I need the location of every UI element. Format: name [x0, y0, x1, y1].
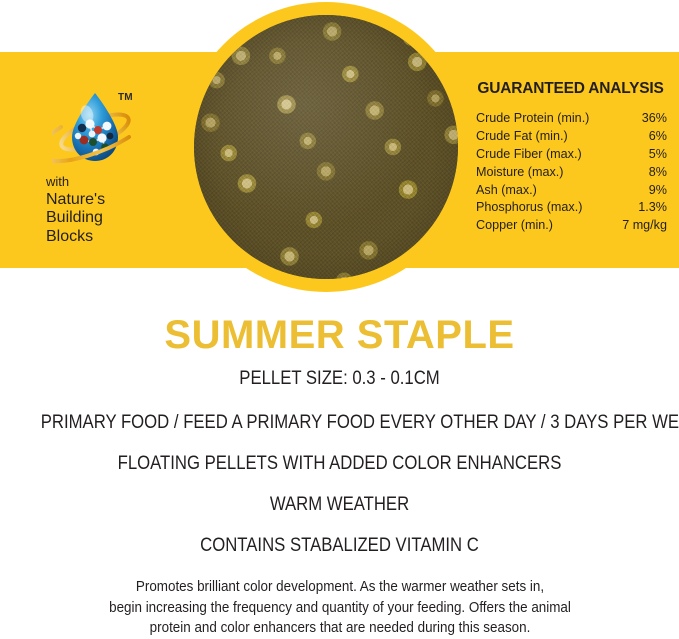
description-line: Promotes brilliant color development. As… — [64, 577, 616, 598]
guaranteed-analysis-list: Crude Protein (min.)36%Crude Fat (min.)6… — [472, 110, 669, 235]
product-info-block: SUMMER STAPLE PELLET SIZE: 0.3 - 0.1CM P… — [0, 300, 679, 639]
feature-line: FLOATING PELLETS WITH ADDED COLOR ENHANC… — [41, 453, 639, 475]
analysis-row-value: 6% — [649, 128, 667, 146]
guaranteed-analysis-panel: GUARANTEED ANALYSIS Crude Protein (min.)… — [472, 80, 669, 235]
brand-logo: TM with Nature's Building Blocks — [46, 84, 166, 246]
analysis-row-label: Phosphorus (max.) — [476, 199, 582, 217]
trademark-symbol: TM — [118, 92, 133, 103]
logo-brand-name: Nature's Building Blocks — [46, 191, 166, 246]
analysis-row-label: Copper (min.) — [476, 217, 553, 235]
analysis-row-value: 9% — [649, 182, 667, 200]
analysis-row: Moisture (max.)8% — [472, 164, 669, 182]
analysis-row: Crude Fiber (max.)5% — [472, 146, 669, 164]
product-photo — [194, 15, 458, 279]
logo-with-label: with — [46, 174, 166, 190]
analysis-row-value: 7 mg/kg — [622, 217, 667, 235]
feature-line: CONTAINS STABALIZED VITAMIN C — [41, 535, 639, 557]
analysis-row: Copper (min.)7 mg/kg — [472, 217, 669, 235]
logo-name-line-2: Building — [46, 209, 166, 227]
description-line: protein and color enhancers that are nee… — [64, 618, 616, 639]
guaranteed-analysis-title: GUARANTEED ANALYSIS — [472, 80, 669, 98]
analysis-row: Ash (max.)9% — [472, 182, 669, 200]
analysis-row-label: Ash (max.) — [476, 182, 537, 200]
analysis-row-value: 36% — [642, 110, 667, 128]
analysis-row-value: 1.3% — [638, 199, 667, 217]
analysis-row-value: 5% — [649, 146, 667, 164]
product-description: Promotes brilliant color development. As… — [64, 577, 616, 639]
feature-line: PRIMARY FOOD / FEED A PRIMARY FOOD EVERY… — [41, 412, 639, 434]
analysis-row-label: Crude Protein (min.) — [476, 110, 589, 128]
logo-name-line-3: Blocks — [46, 228, 166, 246]
water-droplet-icon: TM — [52, 84, 138, 170]
pellet-shading-overlay — [194, 15, 458, 279]
page-title: SUMMER STAPLE — [0, 314, 679, 356]
analysis-row: Crude Protein (min.)36% — [472, 110, 669, 128]
top-banner: TM with Nature's Building Blocks GUARANT… — [0, 0, 679, 310]
analysis-row-value: 8% — [649, 164, 667, 182]
analysis-row: Phosphorus (max.)1.3% — [472, 199, 669, 217]
analysis-row-label: Moisture (max.) — [476, 164, 563, 182]
brand-logo-text: with Nature's Building Blocks — [46, 174, 166, 246]
analysis-row-label: Crude Fiber (max.) — [476, 146, 582, 164]
analysis-row: Crude Fat (min.)6% — [472, 128, 669, 146]
description-line: begin increasing the frequency and quant… — [64, 598, 616, 619]
feature-line: WARM WEATHER — [41, 494, 639, 516]
analysis-row-label: Crude Fat (min.) — [476, 128, 568, 146]
pellet-size-label: PELLET SIZE: 0.3 - 0.1CM — [41, 368, 639, 390]
logo-name-line-1: Nature's — [46, 191, 166, 209]
